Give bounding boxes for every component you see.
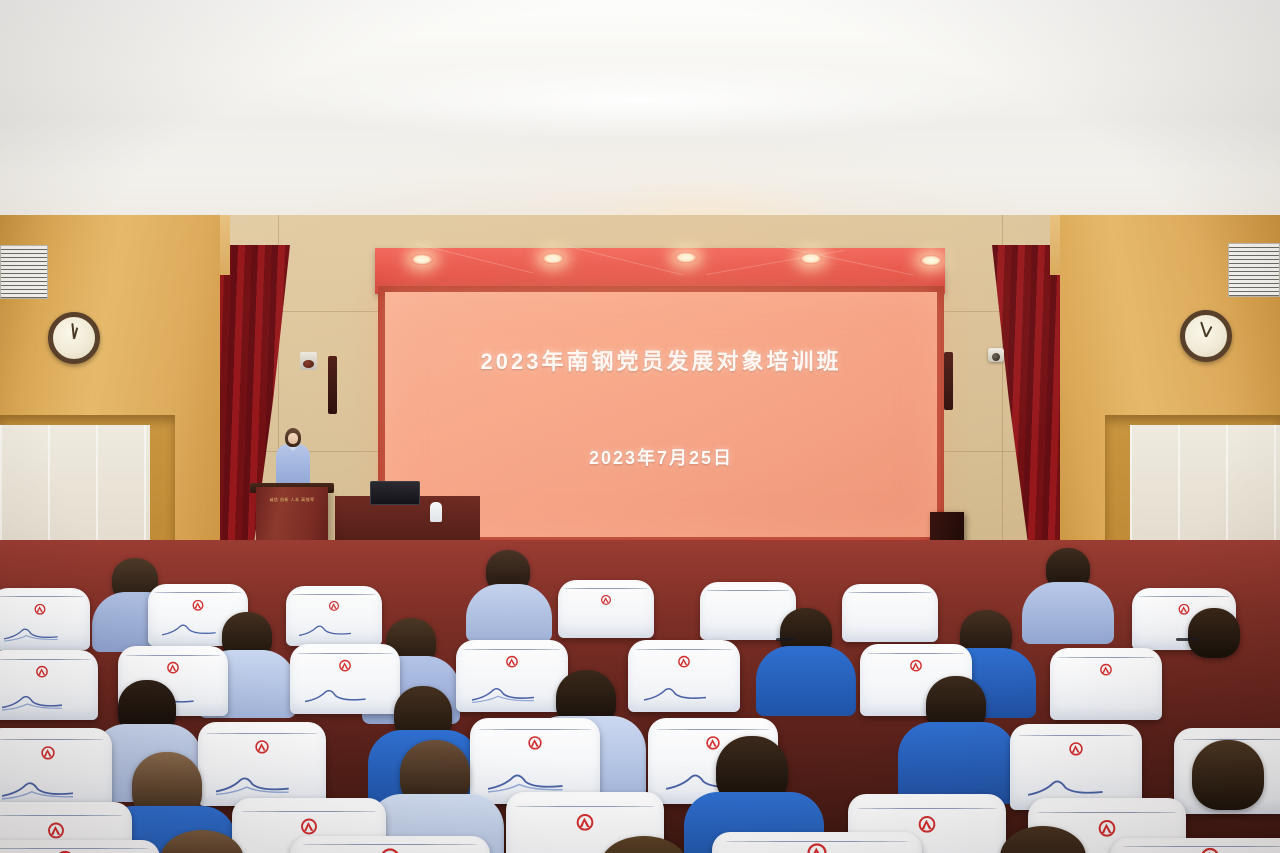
seat-wave-graphic — [488, 771, 563, 793]
water-bottle — [430, 502, 442, 522]
presenter-face — [288, 433, 298, 444]
laptop-device — [370, 481, 420, 505]
seat-back — [0, 728, 112, 810]
nisco-logo-icon — [322, 599, 346, 616]
left-air-vent — [0, 245, 48, 299]
nisco-logo-icon — [565, 811, 605, 839]
wall-speaker-column-left — [328, 356, 337, 414]
seat-back — [290, 644, 400, 714]
seat-back — [1110, 838, 1280, 853]
nisco-logo-icon — [519, 734, 551, 756]
seat-wave-graphic — [1028, 777, 1103, 799]
right-wall-clock — [1180, 310, 1232, 362]
nisco-logo-icon — [1060, 740, 1092, 762]
seat-wave-graphic — [2, 693, 63, 711]
nisco-logo-icon — [27, 602, 53, 620]
soffit-downlight-5 — [920, 255, 942, 266]
attendee-head — [1192, 740, 1264, 810]
seat-back — [290, 836, 490, 853]
left-wall-clock — [48, 312, 100, 364]
seat-wave-graphic — [472, 685, 534, 704]
nisco-logo-icon — [185, 598, 211, 616]
attendee-head — [1188, 608, 1240, 658]
seat-wave-graphic — [299, 623, 351, 639]
seat-back — [712, 832, 922, 853]
attendee-glasses-icon — [1176, 638, 1198, 641]
nisco-logo-icon — [594, 593, 618, 610]
ceiling — [0, 0, 1280, 250]
attendee-torso — [756, 646, 856, 716]
screen-headline: 2023年南钢党员发展对象培训班 — [385, 344, 937, 376]
seat-wave-graphic — [162, 622, 216, 638]
nisco-logo-icon — [367, 845, 413, 853]
podium-slogan: 诚信 创新 人本 高效率 — [256, 497, 328, 503]
soffit-downlight-1 — [411, 254, 433, 265]
seat-wave-graphic — [216, 774, 289, 796]
nisco-logo-icon — [43, 848, 87, 853]
seat-back — [0, 840, 160, 853]
attendee-torso — [1022, 582, 1114, 644]
seat-back — [558, 580, 654, 638]
seat-wave-graphic — [2, 779, 73, 800]
soffit-downlight-4 — [800, 253, 822, 264]
audience-area — [0, 540, 1280, 853]
attendee-glasses-icon — [776, 638, 796, 641]
seat-back — [842, 584, 938, 642]
right-air-vent — [1228, 243, 1280, 297]
nisco-logo-icon — [246, 738, 278, 760]
nisco-logo-icon — [159, 660, 187, 679]
seat-back — [1050, 648, 1162, 720]
soffit-downlight-3 — [675, 252, 697, 263]
seat-wave-graphic — [305, 687, 366, 705]
nisco-logo-icon — [1092, 662, 1120, 681]
seat-wave-graphic — [4, 626, 58, 642]
nisco-logo-icon — [498, 654, 526, 673]
nisco-logo-icon — [902, 658, 930, 677]
nisco-logo-icon — [1188, 845, 1232, 853]
attendee-torso — [898, 722, 1016, 804]
wall-speaker-column-right — [944, 352, 953, 410]
seat-back — [628, 640, 740, 712]
seat-back — [286, 586, 382, 646]
seat-back — [0, 650, 98, 720]
seat-back — [456, 640, 568, 712]
attendee-torso — [466, 584, 552, 642]
ceiling-light-glow — [250, 60, 1030, 140]
wall-alarm-icon — [300, 352, 317, 370]
conference-hall-photo: 2023年南钢党员发展对象培训班 2023年7月25日 诚信 创新 人本 — [0, 0, 1280, 853]
nisco-logo-icon — [794, 840, 840, 853]
soffit-downlight-2 — [542, 253, 564, 264]
nisco-logo-icon — [670, 654, 698, 673]
seat-back — [198, 722, 326, 806]
surveillance-camera-icon — [988, 348, 1004, 362]
seat-back — [0, 588, 90, 650]
nisco-logo-icon — [331, 658, 359, 677]
screen-date: 2023年7月25日 — [385, 444, 937, 470]
nisco-logo-icon — [32, 744, 64, 766]
clock-minute-hand — [1200, 321, 1207, 337]
nisco-logo-icon — [28, 664, 56, 683]
seat-wave-graphic — [644, 685, 706, 704]
